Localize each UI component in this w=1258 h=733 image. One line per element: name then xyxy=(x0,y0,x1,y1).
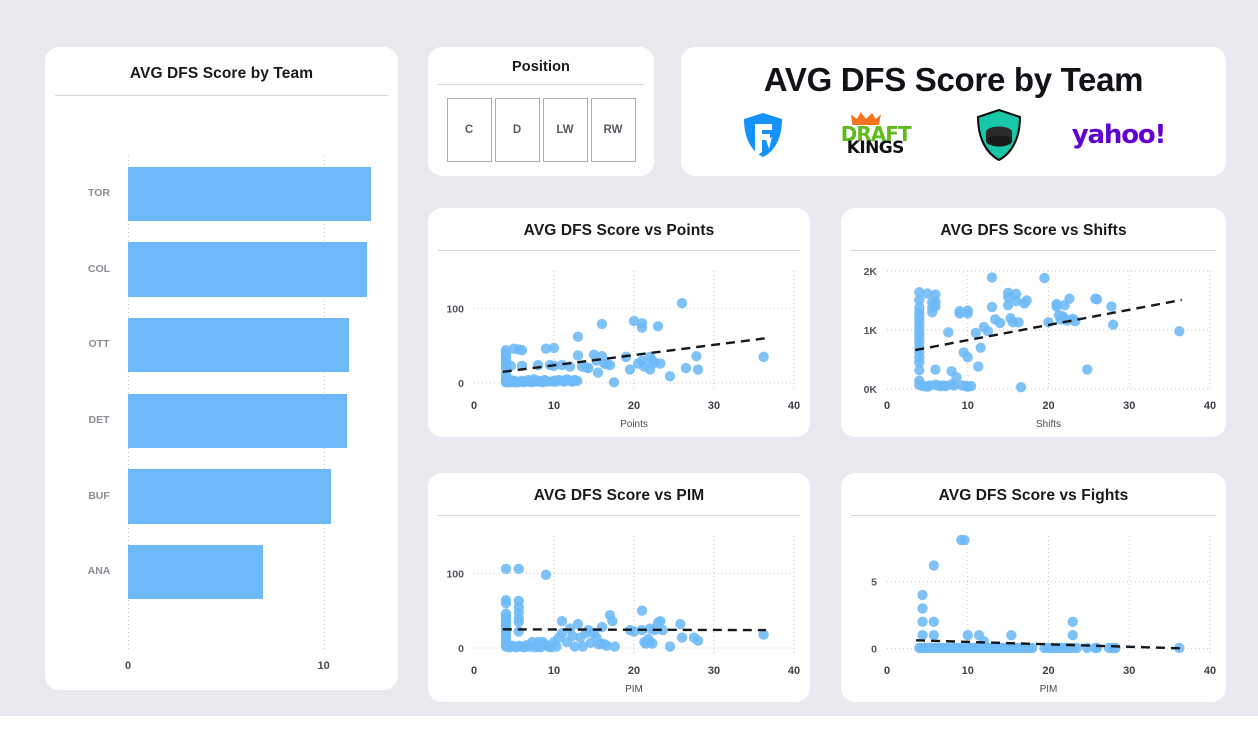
scatter-point[interactable] xyxy=(549,343,559,353)
xtick-label: 40 xyxy=(788,400,800,412)
scatter-point[interactable] xyxy=(665,371,675,381)
scatter-point[interactable] xyxy=(995,318,1005,328)
scatter-point[interactable] xyxy=(929,560,939,570)
title-divider xyxy=(851,515,1216,516)
scatter-point[interactable] xyxy=(1108,319,1118,329)
scatter-title-shifts: AVG DFS Score vs Shifts xyxy=(841,208,1226,250)
ytick-label: 0 xyxy=(871,644,877,656)
bar-tor[interactable] xyxy=(128,167,371,221)
scatter-point[interactable] xyxy=(1110,643,1120,653)
scatter-point[interactable] xyxy=(930,301,940,311)
xtick-label: 30 xyxy=(1123,400,1135,412)
scatter-point[interactable] xyxy=(675,619,685,629)
sportsbook-logo-row: DRAFT KINGS yahoo! xyxy=(681,109,1226,161)
scatter-point[interactable] xyxy=(1092,294,1102,304)
xtick-label: 10 xyxy=(962,665,974,677)
scatter-point[interactable] xyxy=(966,381,976,391)
xtick-label: 0 xyxy=(471,400,477,412)
scatter-svg-fights: 05010203040PIM xyxy=(841,522,1226,702)
scatter-point[interactable] xyxy=(917,617,927,627)
scatter-title-points: AVG DFS Score vs Points xyxy=(428,208,810,250)
scatter-point[interactable] xyxy=(665,641,675,651)
plot-area-shifts: 0K1K2K010203040Shifts xyxy=(841,257,1226,437)
scatter-point[interactable] xyxy=(551,641,561,651)
draftkings-logo: DRAFT KINGS xyxy=(834,113,926,157)
plot-area-fights: 05010203040PIM xyxy=(841,522,1226,702)
scatter-point[interactable] xyxy=(573,619,583,629)
scatter-point[interactable] xyxy=(973,361,983,371)
scatter-point[interactable] xyxy=(514,564,524,574)
scatter-point[interactable] xyxy=(647,638,657,648)
plot-area-points: 0100010203040Points xyxy=(428,257,810,437)
scatter-point[interactable] xyxy=(573,350,583,360)
scatter-point[interactable] xyxy=(943,327,953,337)
scatter-point[interactable] xyxy=(1092,643,1102,653)
scatter-point[interactable] xyxy=(987,272,997,282)
xtick-label: 0 xyxy=(471,665,477,677)
position-filter-card: Position CDLWRW xyxy=(428,47,654,176)
title-divider xyxy=(55,95,388,96)
ytick-label: 1K xyxy=(864,325,878,337)
scatter-point[interactable] xyxy=(1064,294,1074,304)
scatter-point[interactable] xyxy=(637,605,647,615)
scatter-title-pim: AVG DFS Score vs PIM xyxy=(428,473,810,515)
bottom-strip xyxy=(0,716,1258,733)
xtick-label: 0 xyxy=(884,400,890,412)
scatter-point[interactable] xyxy=(917,603,927,613)
scatter-point[interactable] xyxy=(583,363,593,373)
scatter-point[interactable] xyxy=(929,630,939,640)
ytick-label: 5 xyxy=(871,577,877,589)
bar-category-label-tor: TOR xyxy=(78,187,120,199)
scatter-point[interactable] xyxy=(691,351,701,361)
xtick-label: 20 xyxy=(628,400,640,412)
scatter-svg-shifts: 0K1K2K010203040Shifts xyxy=(841,257,1226,437)
scatter-point[interactable] xyxy=(963,352,973,362)
x-axis-label: Shifts xyxy=(1036,419,1061,430)
scatter-point[interactable] xyxy=(987,302,997,312)
scatter-point[interactable] xyxy=(506,361,516,371)
hockey-shield-logo xyxy=(976,109,1022,161)
scatter-point[interactable] xyxy=(1016,382,1026,392)
scatter-point[interactable] xyxy=(610,641,620,651)
xtick-label: 40 xyxy=(1204,665,1216,677)
bar-det[interactable] xyxy=(128,394,347,448)
bar-xtick-label: 0 xyxy=(125,660,131,672)
position-option-c[interactable]: C xyxy=(447,98,492,162)
scatter-svg-points: 0100010203040Points xyxy=(428,257,810,437)
scatter-point[interactable] xyxy=(681,363,691,373)
scatter-point[interactable] xyxy=(929,617,939,627)
scatter-point[interactable] xyxy=(1006,630,1016,640)
scatter-point[interactable] xyxy=(677,298,687,308)
position-filter-title: Position xyxy=(428,47,654,84)
scatter-point[interactable] xyxy=(1021,295,1031,305)
scatter-point[interactable] xyxy=(573,332,583,342)
dashboard-canvas: AVG DFS Score by Team 010TORCOLOTTDETBUF… xyxy=(0,0,1258,716)
xtick-label: 20 xyxy=(1042,400,1054,412)
scatter-point[interactable] xyxy=(593,367,603,377)
bar-category-label-buf: BUF xyxy=(78,490,120,502)
ytick-label: 2K xyxy=(864,266,878,278)
position-option-lw[interactable]: LW xyxy=(543,98,588,162)
scatter-point[interactable] xyxy=(1082,364,1092,374)
xtick-label: 10 xyxy=(962,400,974,412)
scatter-card-points: AVG DFS Score vs Points 0100010203040Poi… xyxy=(428,208,810,437)
title-divider xyxy=(438,250,800,251)
scatter-point[interactable] xyxy=(517,345,527,355)
scatter-point[interactable] xyxy=(1068,630,1078,640)
ytick-label: 0 xyxy=(458,378,464,390)
fanduel-logo xyxy=(742,112,784,158)
scatter-point[interactable] xyxy=(597,319,607,329)
scatter-point[interactable] xyxy=(514,626,524,636)
xtick-label: 20 xyxy=(1042,665,1054,677)
scatter-point[interactable] xyxy=(655,358,665,368)
bar-category-label-col: COL xyxy=(78,263,120,275)
xtick-label: 30 xyxy=(708,400,720,412)
scatter-card-shifts: AVG DFS Score vs Shifts 0K1K2K010203040S… xyxy=(841,208,1226,437)
bar-category-label-det: DET xyxy=(78,414,120,426)
page-title: AVG DFS Score by Team xyxy=(681,47,1226,99)
xtick-label: 30 xyxy=(1123,665,1135,677)
yahoo-logo: yahoo! xyxy=(1072,120,1165,150)
scatter-point[interactable] xyxy=(609,377,619,387)
scatter-title-fights: AVG DFS Score vs Fights xyxy=(841,473,1226,515)
scatter-point[interactable] xyxy=(930,364,940,374)
ytick-label: 100 xyxy=(446,303,464,315)
xtick-label: 10 xyxy=(548,400,560,412)
scatter-point[interactable] xyxy=(514,617,524,627)
title-divider xyxy=(438,515,800,516)
scatter-card-fights: AVG DFS Score vs Fights 05010203040PIM xyxy=(841,473,1226,702)
scatter-point[interactable] xyxy=(637,323,647,333)
position-option-d[interactable]: D xyxy=(495,98,540,162)
xtick-label: 40 xyxy=(1204,400,1216,412)
xtick-label: 20 xyxy=(628,665,640,677)
x-axis-label: PIM xyxy=(1040,684,1058,695)
bar-category-label-ott: OTT xyxy=(78,338,120,350)
bar-ott[interactable] xyxy=(128,318,349,372)
x-axis-label: Points xyxy=(620,419,648,430)
scatter-point[interactable] xyxy=(959,535,969,545)
scatter-point[interactable] xyxy=(693,364,703,374)
ytick-label: 0K xyxy=(864,384,878,396)
bar-chart-title: AVG DFS Score by Team xyxy=(45,47,398,95)
scatter-point[interactable] xyxy=(501,564,511,574)
xtick-label: 10 xyxy=(548,665,560,677)
scatter-point[interactable] xyxy=(572,376,582,386)
scatter-point[interactable] xyxy=(605,360,615,370)
scatter-point[interactable] xyxy=(1039,273,1049,283)
ytick-label: 0 xyxy=(458,643,464,655)
scatter-point[interactable] xyxy=(963,630,973,640)
xtick-label: 40 xyxy=(788,665,800,677)
scatter-point[interactable] xyxy=(917,630,927,640)
ytick-label: 100 xyxy=(446,568,464,580)
xtick-label: 30 xyxy=(708,665,720,677)
scatter-point[interactable] xyxy=(557,616,567,626)
scatter-point[interactable] xyxy=(655,616,665,626)
bar-col[interactable] xyxy=(128,242,367,296)
scatter-point[interactable] xyxy=(914,365,924,375)
bar-buf[interactable] xyxy=(128,469,331,523)
scatter-point[interactable] xyxy=(758,352,768,362)
draftkings-label-bottom: KINGS xyxy=(847,138,904,158)
bar-ana[interactable] xyxy=(128,545,263,599)
bar-xtick-label: 10 xyxy=(318,660,330,672)
scatter-point[interactable] xyxy=(693,635,703,645)
scatter-point[interactable] xyxy=(975,343,985,353)
xtick-label: 0 xyxy=(884,665,890,677)
scatter-point[interactable] xyxy=(963,308,973,318)
scatter-point[interactable] xyxy=(1174,326,1184,336)
scatter-point[interactable] xyxy=(917,590,927,600)
position-option-rw[interactable]: RW xyxy=(591,98,636,162)
title-divider xyxy=(851,250,1216,251)
scatter-point[interactable] xyxy=(1013,317,1023,327)
scatter-point[interactable] xyxy=(677,632,687,642)
bar-chart-card: AVG DFS Score by Team 010TORCOLOTTDETBUF… xyxy=(45,47,398,690)
bar-chart-plot: 010TORCOLOTTDETBUFANA xyxy=(45,104,398,690)
plot-area-pim: 0100010203040PIM xyxy=(428,522,810,702)
scatter-card-pim: AVG DFS Score vs PIM 0100010203040PIM xyxy=(428,473,810,702)
scatter-svg-pim: 0100010203040PIM xyxy=(428,522,810,702)
scatter-point[interactable] xyxy=(607,616,617,626)
scatter-point[interactable] xyxy=(1106,301,1116,311)
position-option-list: CDLWRW xyxy=(428,85,654,162)
scatter-point[interactable] xyxy=(501,598,511,608)
scatter-point[interactable] xyxy=(653,321,663,331)
dashboard-header-card: AVG DFS Score by Team DRAFT KINGS xyxy=(681,47,1226,176)
scatter-point[interactable] xyxy=(541,570,551,580)
scatter-point[interactable] xyxy=(1068,617,1078,627)
bar-category-label-ana: ANA xyxy=(78,565,120,577)
x-axis-label: PIM xyxy=(625,684,643,695)
